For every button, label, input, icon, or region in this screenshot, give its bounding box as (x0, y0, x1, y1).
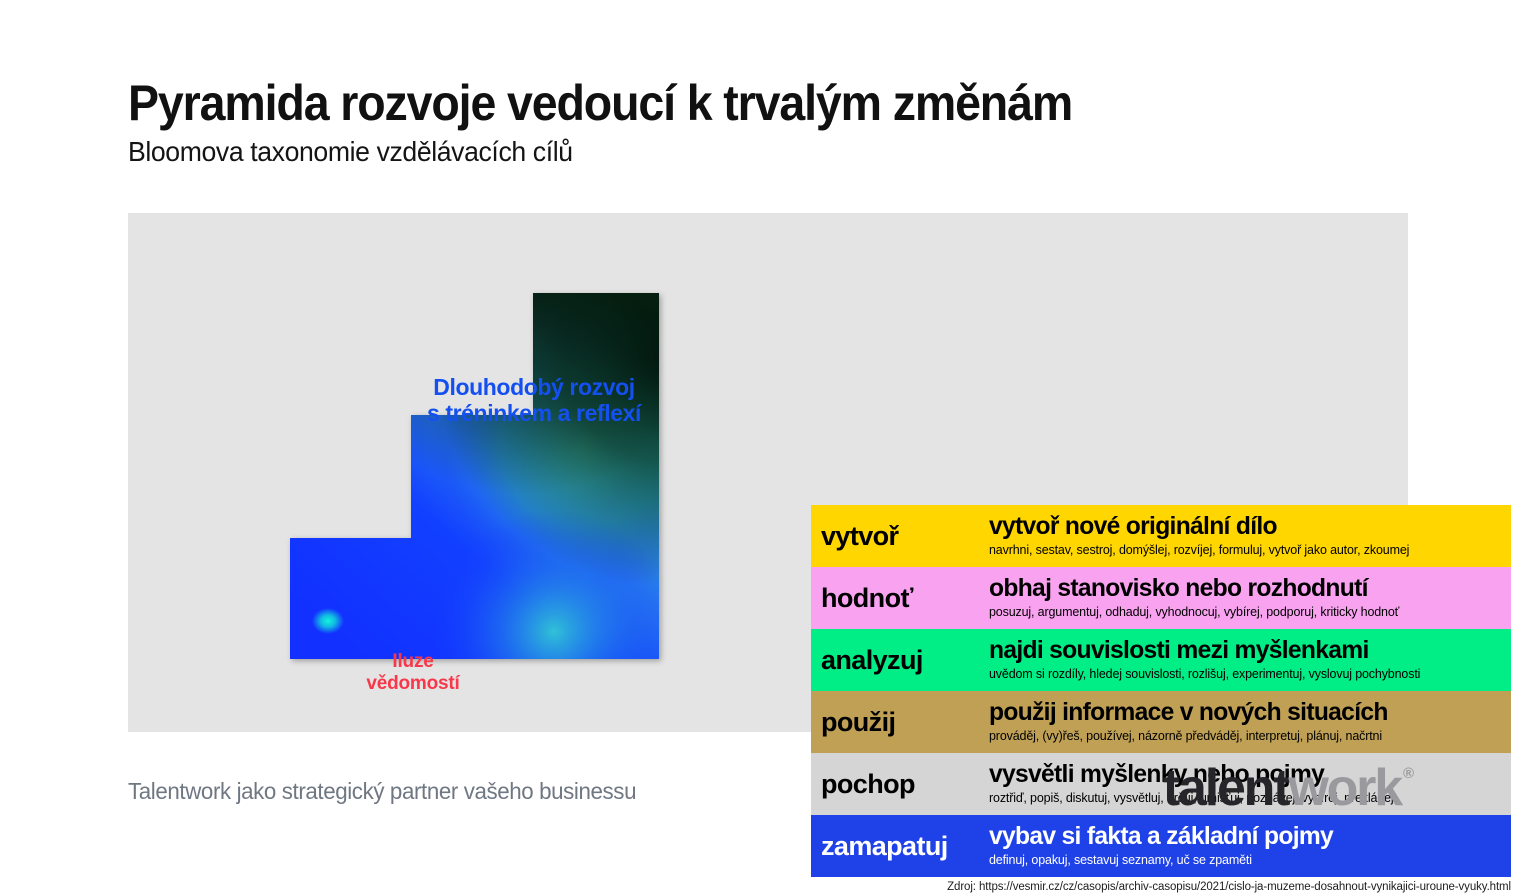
logo-text-talent: talent (1163, 762, 1288, 814)
source-citation: Zdroj: https://vesmir.cz/cz/casopis/arch… (811, 881, 1511, 893)
row-body: obhaj stanovisko nebo rozhodnutí posuzuj… (989, 567, 1511, 629)
row-verb: použij (811, 691, 989, 753)
table-row[interactable]: analyzuj najdi souvislosti mezi myšlenka… (811, 629, 1511, 691)
row-body: použij informace v nových situacích prov… (989, 691, 1511, 753)
row-subtext: uvědom si rozdíly, hledej souvislosti, r… (989, 667, 1505, 682)
row-subtext: navrhni, sestav, sestroj, domýšlej, rozv… (989, 543, 1505, 558)
row-body: najdi souvislosti mezi myšlenkami uvědom… (989, 629, 1511, 691)
row-verb: pochop (811, 753, 989, 815)
page-subtitle: Bloomova taxonomie vzdělávacích cílů (128, 137, 1382, 166)
content-panel: Dlouhodobý rozvoj s tréninkem a reflexí … (128, 213, 1408, 732)
row-subtext: prováděj, (vy)řeš, používej, názorně pře… (989, 729, 1505, 744)
row-headline: obhaj stanovisko nebo rozhodnutí (989, 576, 1497, 602)
table-row[interactable]: hodnoť obhaj stanovisko nebo rozhodnutí … (811, 567, 1511, 629)
pyramid-top-label: Dlouhodobý rozvoj s tréninkem a reflexí (374, 375, 694, 427)
page-title: Pyramida rozvoje vedoucí k trvalým změná… (128, 78, 1356, 129)
row-headline: najdi souvislosti mezi myšlenkami (989, 638, 1497, 664)
staircase-shape (288, 291, 668, 661)
row-verb: vytvoř (811, 505, 989, 567)
logo-text-work: work (1288, 762, 1401, 814)
table-row[interactable]: použij použij informace v nových situací… (811, 691, 1511, 753)
table-row[interactable]: vytvoř vytvoř nové originální dílo navrh… (811, 505, 1511, 567)
row-subtext: posuzuj, argumentuj, odhaduj, vyhodnocuj… (989, 605, 1505, 620)
row-headline: vytvoř nové originální dílo (989, 514, 1497, 540)
row-body: vytvoř nové originální dílo navrhni, ses… (989, 505, 1511, 567)
header: Pyramida rozvoje vedoucí k trvalým změná… (128, 78, 1448, 166)
footer-tagline: Talentwork jako strategický partner vaše… (128, 778, 636, 805)
talentwork-logo: talentwork® (1163, 762, 1414, 814)
table-row[interactable]: zamapatuj vybav si fakta a základní pojm… (811, 815, 1511, 877)
row-verb: hodnoť (811, 567, 989, 629)
row-body: vybav si fakta a základní pojmy definuj,… (989, 815, 1511, 877)
taxonomy-table: vytvoř vytvoř nové originální dílo navrh… (811, 505, 1511, 877)
row-headline: vybav si fakta a základní pojmy (989, 824, 1497, 850)
row-verb: analyzuj (811, 629, 989, 691)
pyramid-bottom-label: Iluze vědomostí (318, 651, 508, 695)
registered-trademark-icon: ® (1403, 766, 1414, 781)
row-subtext: definuj, opakuj, sestavuj seznamy, uč se… (989, 853, 1505, 868)
row-verb: zamapatuj (811, 815, 989, 877)
pyramid-illustration: Dlouhodobý rozvoj s tréninkem a reflexí … (288, 291, 668, 661)
row-headline: použij informace v nových situacích (989, 700, 1497, 726)
